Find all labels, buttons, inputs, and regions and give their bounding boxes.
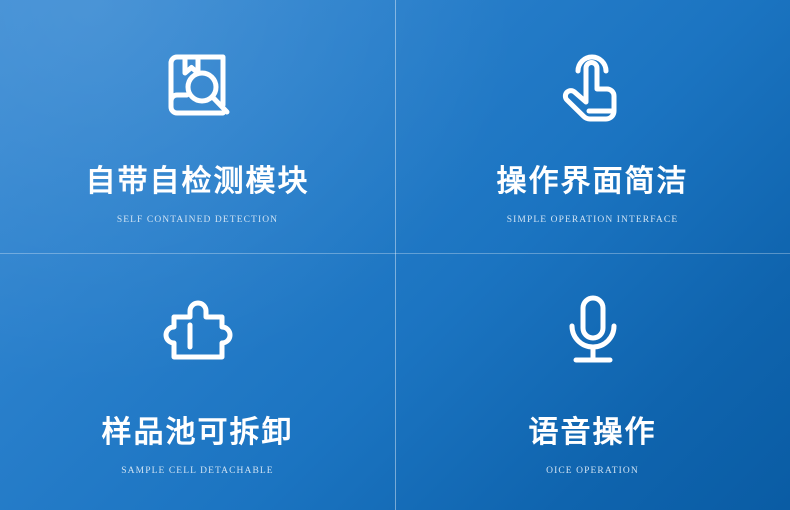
feature-card-detachable-cell[interactable]: 样品池可拆卸 SAMPLE CELL DETACHABLE [0,255,395,510]
feature-title: 语音操作 [529,415,657,451]
feature-subtitle: OICE OPERATION [546,466,639,476]
feature-subtitle: SIMPLE OPERATION INTERFACE [507,215,678,225]
feature-title: 样品池可拆卸 [102,415,294,451]
puzzle-piece-icon [160,281,236,381]
feature-grid: 自带自检测模块 SELF CONTAINED DETECTION 操作界面简洁 … [0,0,790,510]
feature-card-voice-operation[interactable]: 语音操作 OICE OPERATION [395,255,790,510]
feature-subtitle: SELF CONTAINED DETECTION [117,215,278,225]
microphone-icon [563,281,623,381]
book-search-icon [159,38,237,138]
feature-card-simple-interface[interactable]: 操作界面简洁 SIMPLE OPERATION INTERFACE [395,0,790,255]
touch-hand-icon [560,38,626,138]
feature-title: 自带自检测模块 [86,164,310,200]
feature-card-self-detection[interactable]: 自带自检测模块 SELF CONTAINED DETECTION [0,0,395,255]
feature-subtitle: SAMPLE CELL DETACHABLE [121,466,273,476]
feature-title: 操作界面简洁 [497,164,689,200]
